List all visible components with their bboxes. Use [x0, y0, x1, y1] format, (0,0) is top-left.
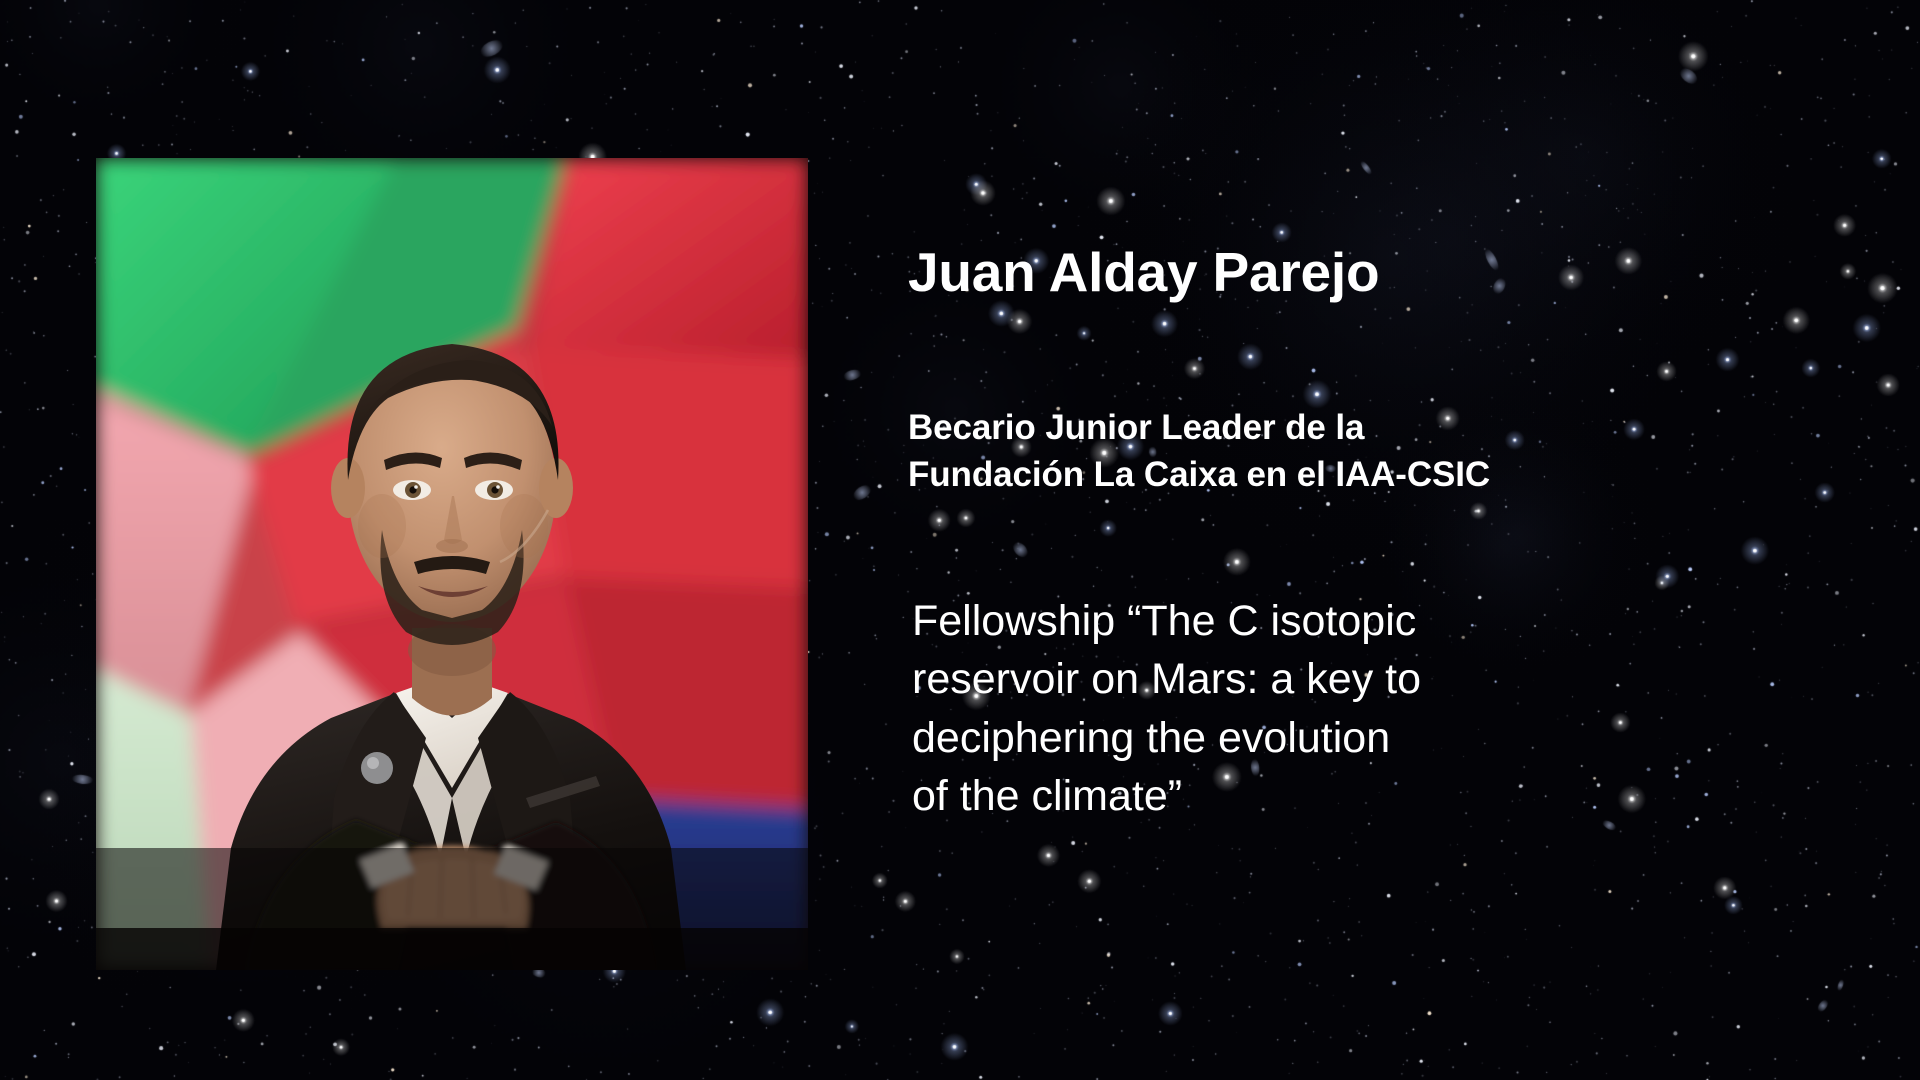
fellowship-line: of the climate”	[912, 767, 1421, 825]
fellowship-title: Fellowship “The C isotopic reservoir on …	[912, 592, 1421, 826]
fellowship-line: reservoir on Mars: a key to	[912, 650, 1421, 708]
speaker-role-line: Becario Junior Leader de la	[908, 405, 1490, 452]
speaker-portrait	[96, 158, 808, 970]
speaker-text-column: Juan Alday Parejo Becario Junior Leader …	[908, 0, 1908, 1080]
speaker-slide: Juan Alday Parejo Becario Junior Leader …	[0, 0, 1920, 1080]
speaker-role-line: Fundación La Caixa en el IAA-CSIC	[908, 452, 1490, 499]
speaker-role: Becario Junior Leader de la Fundación La…	[908, 405, 1490, 498]
fellowship-line: Fellowship “The C isotopic	[912, 592, 1421, 650]
speaker-name: Juan Alday Parejo	[908, 244, 1379, 302]
fellowship-line: deciphering the evolution	[912, 709, 1421, 767]
